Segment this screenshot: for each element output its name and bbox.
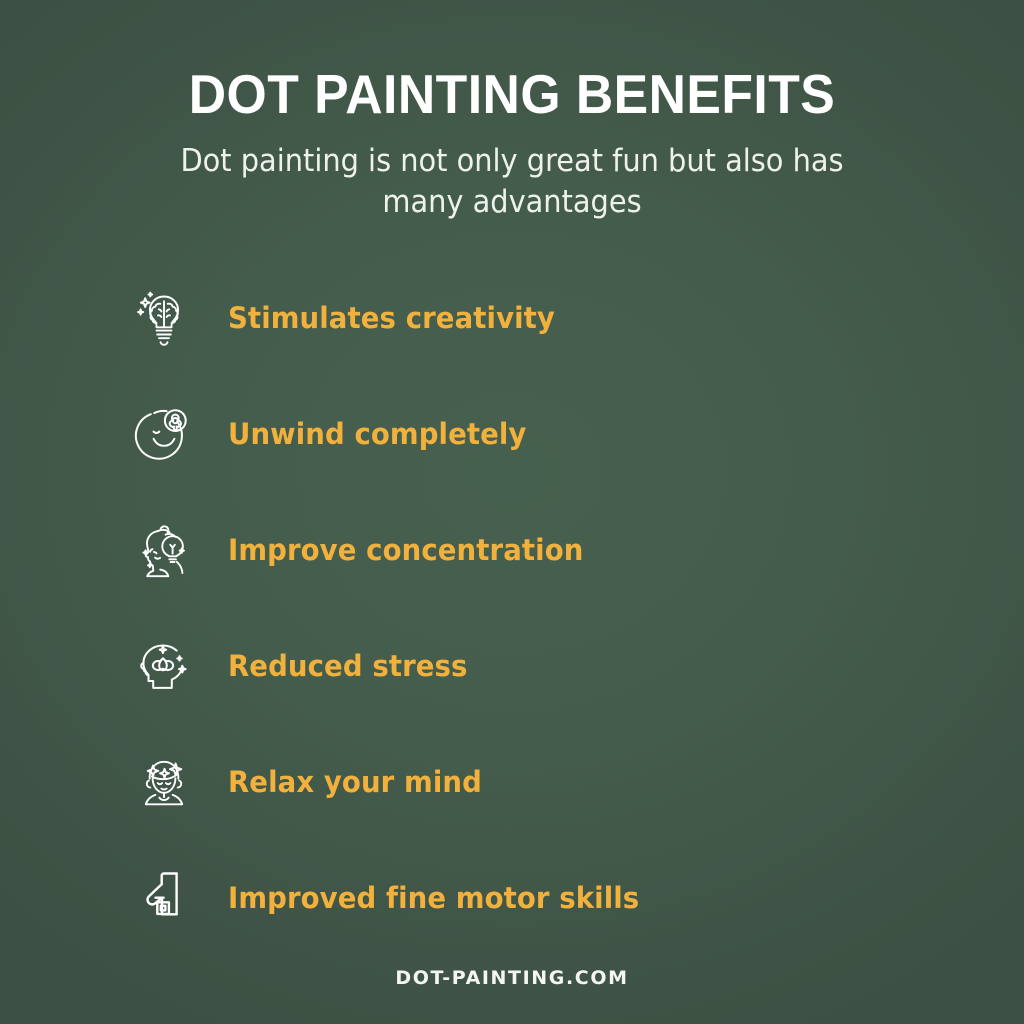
- footer-website-label: DOT-PAINTING.COM: [395, 967, 628, 989]
- list-item: Stimulates creativity: [0, 260, 1024, 376]
- page-title: DOT PAINTING BENEFITS: [31, 66, 994, 123]
- list-item: Unwind completely: [0, 376, 1024, 492]
- benefit-label: Unwind completely: [228, 417, 526, 451]
- benefit-label: Relax your mind: [228, 765, 482, 799]
- brain-lightbulb-icon: [132, 286, 196, 350]
- list-item: Relax your mind: [0, 724, 1024, 840]
- list-item: Reduced stress: [0, 608, 1024, 724]
- head-profile-lightbulb-icon: [132, 518, 196, 582]
- smiling-face-flower-icon: [132, 402, 196, 466]
- poster-header: DOT PAINTING BENEFITS Dot painting is no…: [0, 0, 1024, 224]
- list-item: Improved fine motor skills: [0, 840, 1024, 956]
- benefit-label: Improve concentration: [228, 533, 583, 567]
- list-item: Improve concentration: [0, 492, 1024, 608]
- benefit-label: Stimulates creativity: [228, 301, 555, 335]
- page-subtitle: Dot painting is not only great fun but a…: [168, 141, 856, 223]
- poster-footer: DOT-PAINTING.COM: [0, 967, 1024, 989]
- benefits-list: Stimulates creativity Unwind completely: [0, 260, 1024, 956]
- hand-holding-block-icon: [132, 866, 196, 930]
- benefit-label: Improved fine motor skills: [228, 881, 639, 915]
- head-lotus-icon: [132, 634, 196, 698]
- benefit-label: Reduced stress: [228, 649, 468, 683]
- calm-face-sparkles-icon: [132, 750, 196, 814]
- infographic-poster: DOT PAINTING BENEFITS Dot painting is no…: [0, 0, 1024, 1024]
